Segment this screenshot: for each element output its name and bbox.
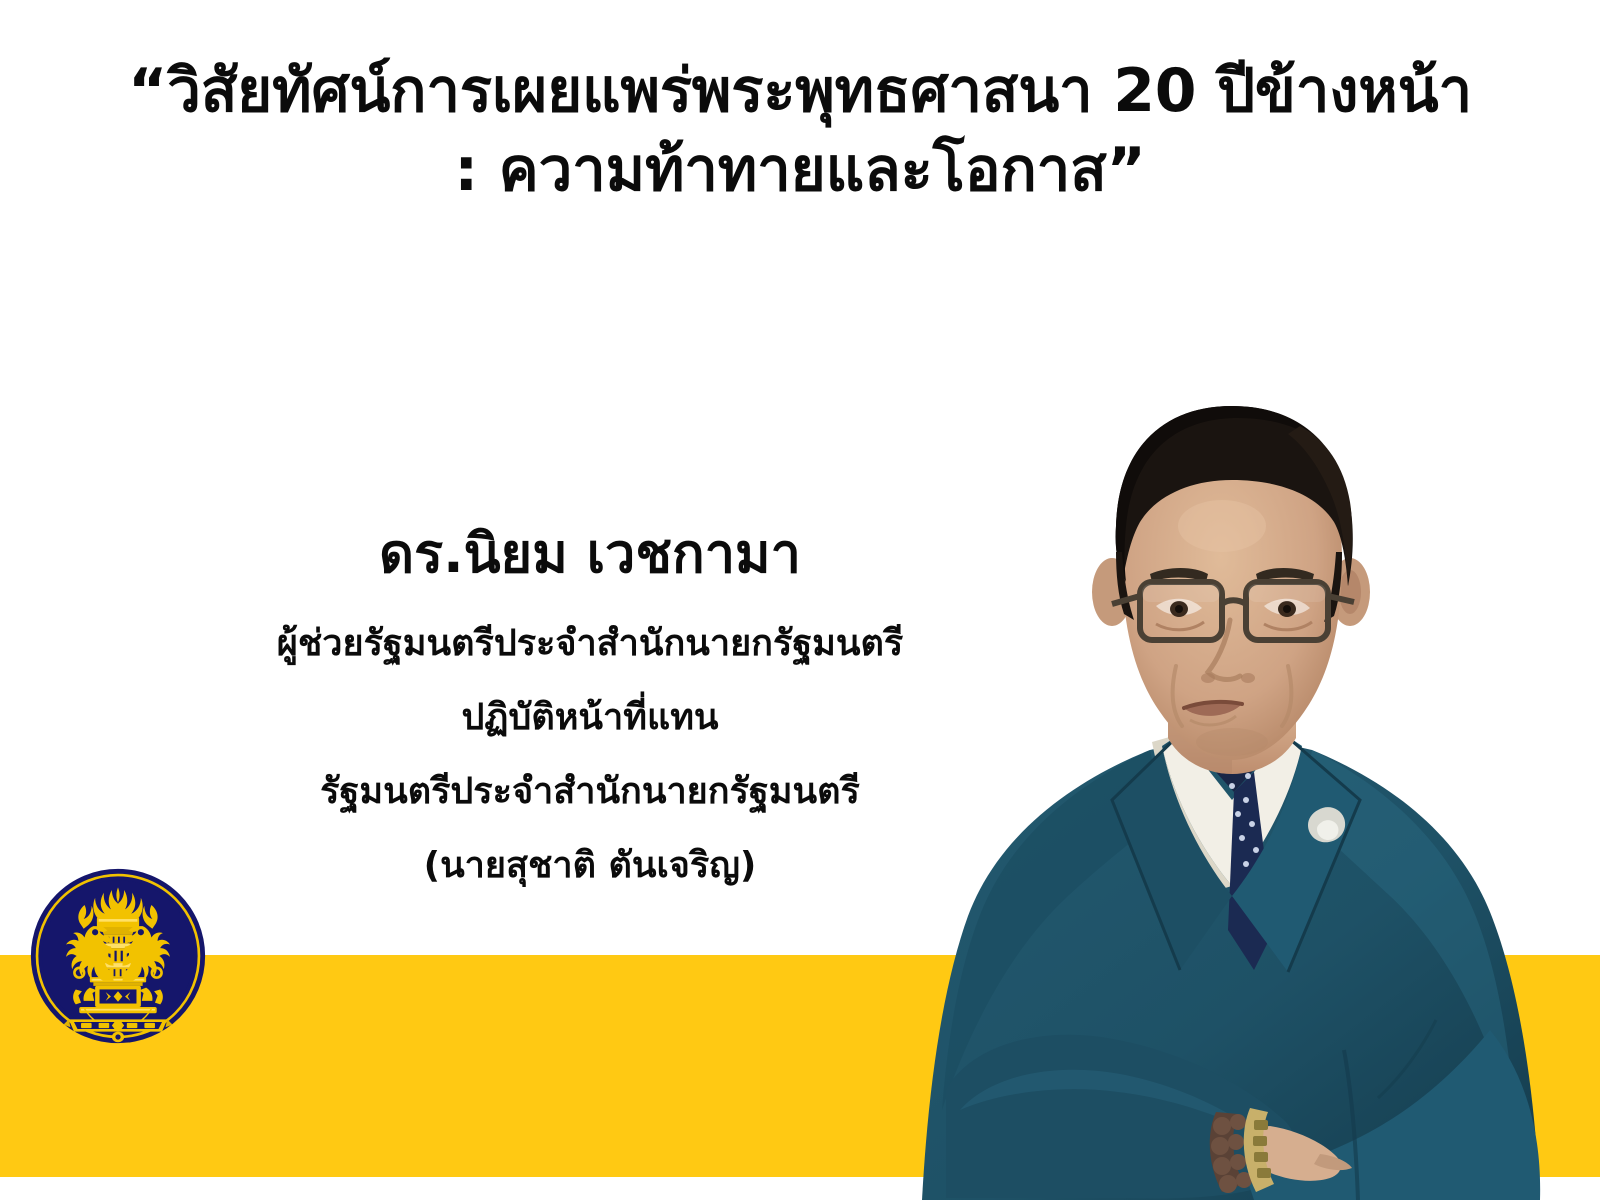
presentation-slide: “วิสัยทัศน์การเผยแพร่พระพุทธศาสนา 20 ปีข…	[0, 0, 1600, 1200]
speaker-role-line-1: ผู้ช่วยรัฐมนตรีประจำสำนักนายกรัฐมนตรี	[120, 626, 1060, 662]
title-line-2: : ความท้าทายและโอกาส”	[0, 131, 1600, 210]
speaker-role-line-3: รัฐมนตรีประจำสำนักนายกรัฐมนตรี	[120, 774, 1060, 810]
slide-title: “วิสัยทัศน์การเผยแพร่พระพุทธศาสนา 20 ปีข…	[0, 52, 1600, 210]
speaker-name: ดร.นิยม เวชกามา	[120, 520, 1060, 588]
speaker-role-line-2: ปฏิบัติหน้าที่แทน	[120, 700, 1060, 736]
title-line-1: “วิสัยทัศน์การเผยแพร่พระพุทธศาสนา 20 ปีข…	[0, 52, 1600, 131]
speaker-role-line-4: (นายสุชาติ ตันเจริญ)	[120, 848, 1060, 884]
office-of-prime-minister-seal-icon	[30, 868, 206, 1044]
speaker-info: ดร.นิยม เวชกามา ผู้ช่วยรัฐมนตรีประจำสำนั…	[120, 520, 1060, 884]
